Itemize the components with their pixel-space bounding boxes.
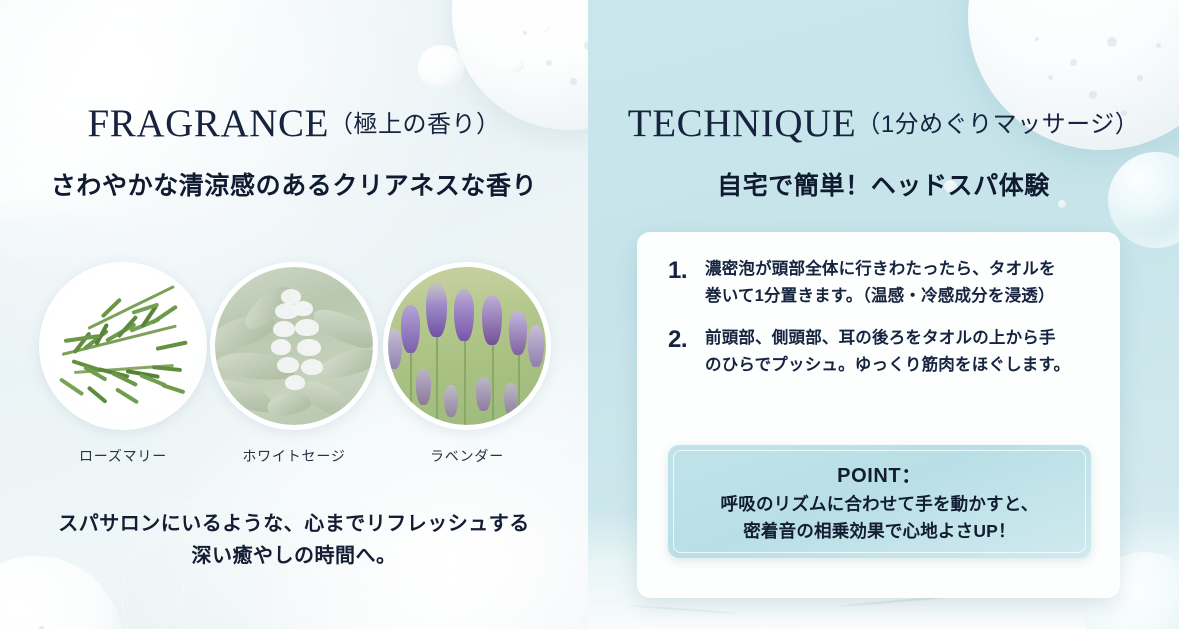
steps-list: 1. 濃密泡が頭部全体に行きわたったら、タオルを 巻いて1分置きます。（温感・冷… [668, 256, 1092, 395]
fragrance-subheading: さわやかな清涼感のあるクリアネスな香り [51, 172, 537, 200]
fragrance-closing-line-1: スパサロンにいるような、心までリフレッシュする [0, 508, 588, 540]
herb-item-lavender: ラベンダー [382, 262, 552, 466]
fragrance-heading-en: FRAGRANCE [87, 104, 329, 145]
step-number: 2. [668, 325, 705, 356]
fragrance-heading-jp: （極上の香り） [329, 112, 501, 137]
fragrance-panel: FRAGRANCE（極上の香り） さわやかな清涼感のあるクリアネスな香り [0, 0, 588, 629]
point-line-2: 密着音の相乗効果で心地よさUP！ [721, 518, 1039, 544]
technique-steps-card: 1. 濃密泡が頭部全体に行きわたったら、タオルを 巻いて1分置きます。（温感・冷… [637, 232, 1120, 598]
point-title: POINT： [721, 459, 1039, 488]
technique-heading-en: TECHNIQUE [628, 104, 857, 145]
herb-photo-frame [383, 262, 551, 430]
technique-subheading-wrap: 自宅で簡単！ヘッドスパ体験 [588, 166, 1179, 202]
step-text-line: 巻いて1分置きます。（温感・冷感成分を浸透） [705, 283, 1056, 310]
herb-caption: ホワイトセージ [209, 446, 379, 466]
rosemary-photo [44, 267, 202, 425]
step-text-line: 濃密泡が頭部全体に行きわたったら、タオルを [705, 256, 1056, 283]
foam-bubble-icon [418, 45, 464, 91]
point-line-1: 呼吸のリズムに合わせて手を動かすと、 [721, 491, 1039, 517]
fragrance-heading: FRAGRANCE（極上の香り） [0, 104, 588, 145]
point-content: POINT： 呼吸のリズムに合わせて手を動かすと、 密着音の相乗効果で心地よさU… [721, 459, 1039, 544]
fragrance-closing-line-2: 深い癒やしの時間へ。 [0, 540, 588, 572]
lavender-photo [388, 267, 546, 425]
step-text-line: 前頭部、側頭部、耳の後ろをタオルの上から手 [705, 325, 1070, 352]
herb-photo-frame [39, 262, 207, 430]
step-text-line: のひらでプッシュ。ゆっくり筋肉をほぐします。 [705, 352, 1070, 379]
foam-bubble-icon [508, 56, 524, 72]
foam-bubble-icon [540, 22, 550, 32]
herb-photo-frame [210, 262, 378, 430]
step-text: 前頭部、側頭部、耳の後ろをタオルの上から手 のひらでプッシュ。ゆっくり筋肉をほぐ… [705, 325, 1070, 378]
point-callout-box: POINT： 呼吸のリズムに合わせて手を動かすと、 密着音の相乗効果で心地よさU… [668, 445, 1091, 558]
step-number: 1. [668, 256, 705, 287]
promo-banner: FRAGRANCE（極上の香り） さわやかな清涼感のあるクリアネスな香り [0, 0, 1179, 629]
step-text: 濃密泡が頭部全体に行きわたったら、タオルを 巻いて1分置きます。（温感・冷感成分… [705, 256, 1056, 309]
technique-heading-jp: （1分めぐりマッサージ） [856, 112, 1139, 137]
herb-caption: ローズマリー [38, 446, 208, 466]
step-item: 2. 前頭部、側頭部、耳の後ろをタオルの上から手 のひらでプッシュ。ゆっくり筋肉… [668, 325, 1092, 378]
herb-item-white-sage: ホワイトセージ [209, 262, 379, 466]
step-item: 1. 濃密泡が頭部全体に行きわたったら、タオルを 巻いて1分置きます。（温感・冷… [668, 256, 1092, 309]
fragrance-closing-text: スパサロンにいるような、心までリフレッシュする 深い癒やしの時間へ。 [0, 508, 588, 573]
herb-gallery: ローズマリー [0, 262, 588, 477]
technique-subheading: 自宅で簡単！ヘッドスパ体験 [717, 172, 1050, 200]
fragrance-subheading-wrap: さわやかな清涼感のあるクリアネスな香り [0, 166, 588, 202]
technique-heading: TECHNIQUE（1分めぐりマッサージ） [588, 104, 1179, 145]
herb-caption: ラベンダー [382, 446, 552, 466]
white-sage-photo [215, 267, 373, 425]
herb-item-rosemary: ローズマリー [38, 262, 208, 466]
